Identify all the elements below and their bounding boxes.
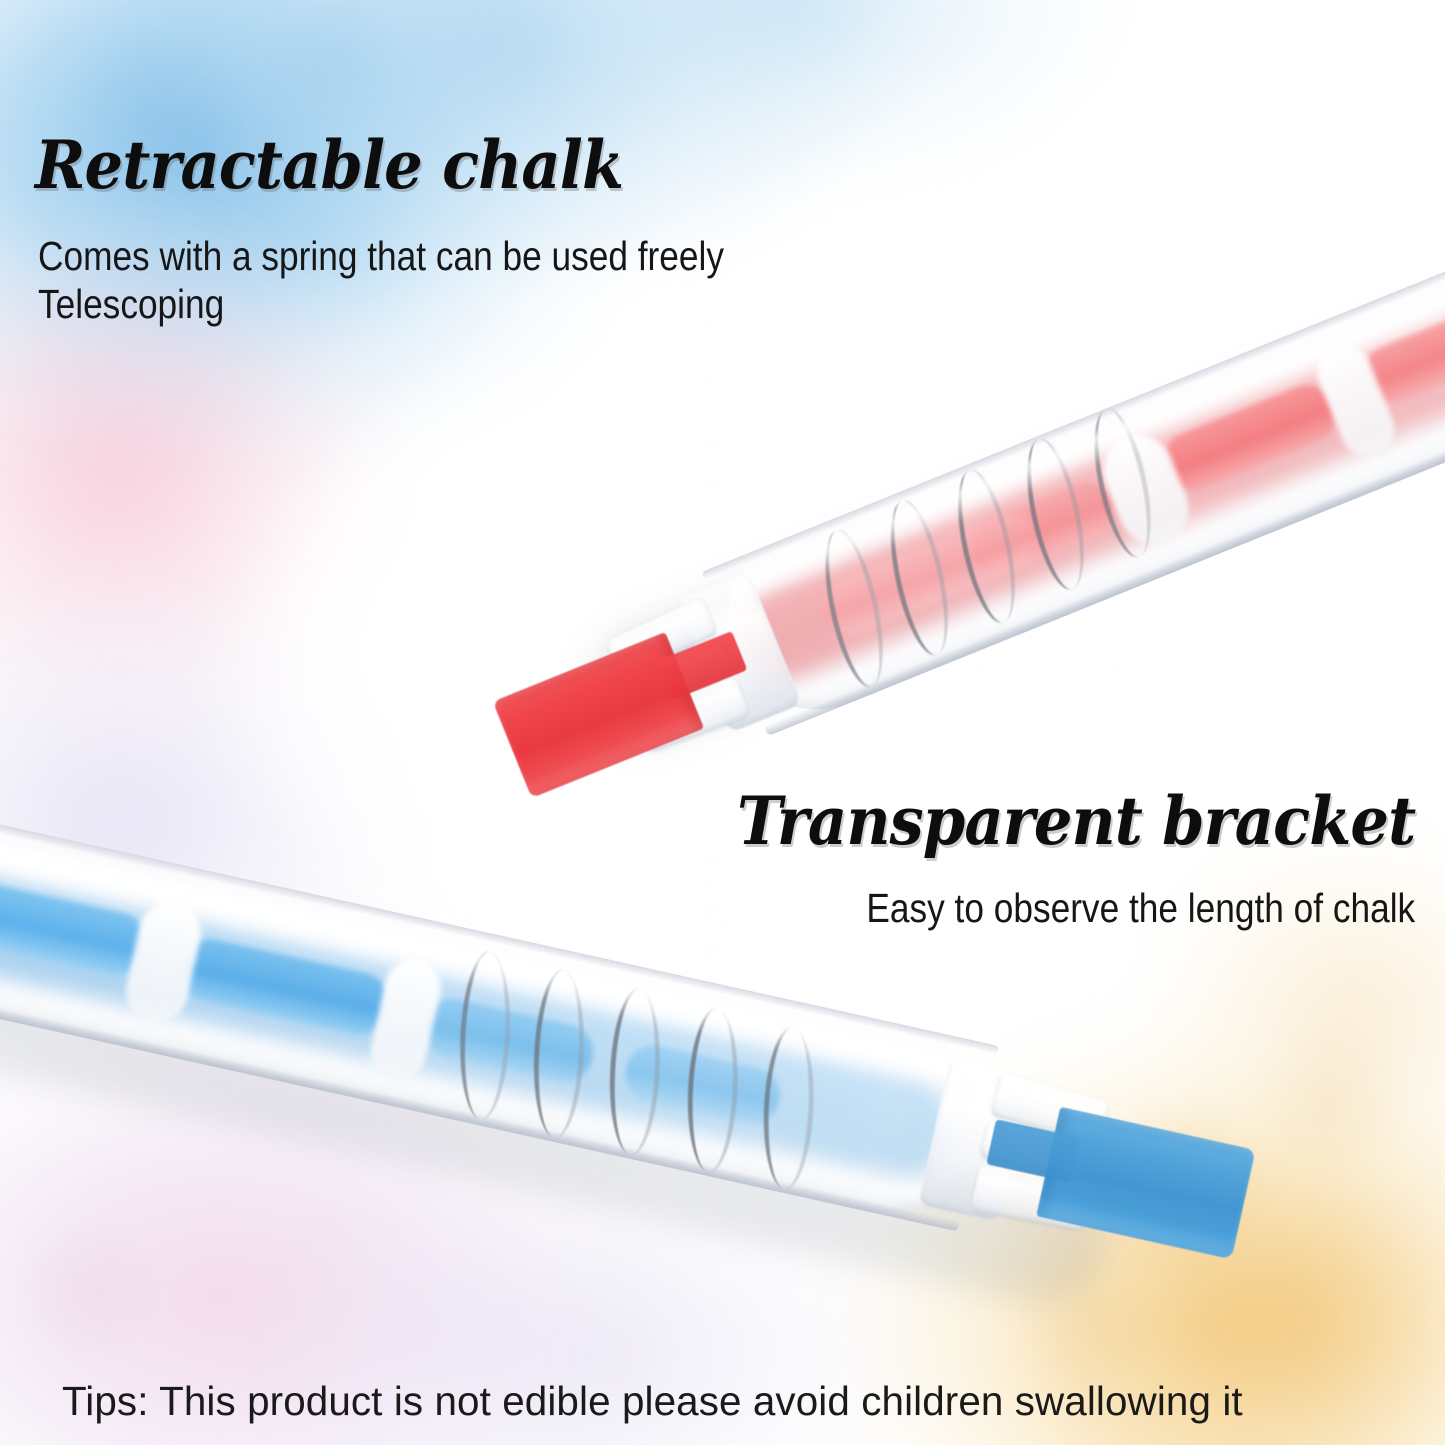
- feature-subtitle-transparent-bracket: Easy to observe the length of chalk: [866, 884, 1415, 932]
- blue-chalk-nib: [1036, 1107, 1256, 1260]
- red-pen-barrel: [701, 254, 1445, 736]
- red-chalk-holder: [615, 251, 1445, 775]
- tips-warning-note: Tips: This product is not edible please …: [62, 1378, 1243, 1425]
- infographic-canvas: Retractable chalk Comes with a spring th…: [0, 0, 1445, 1445]
- feature-heading-transparent-bracket: Transparent bracket: [737, 782, 1415, 860]
- feature-heading-retractable-chalk: Retractable chalk: [35, 126, 623, 204]
- feature-subtitle-retractable-chalk: Comes with a spring that can be used fre…: [38, 232, 724, 329]
